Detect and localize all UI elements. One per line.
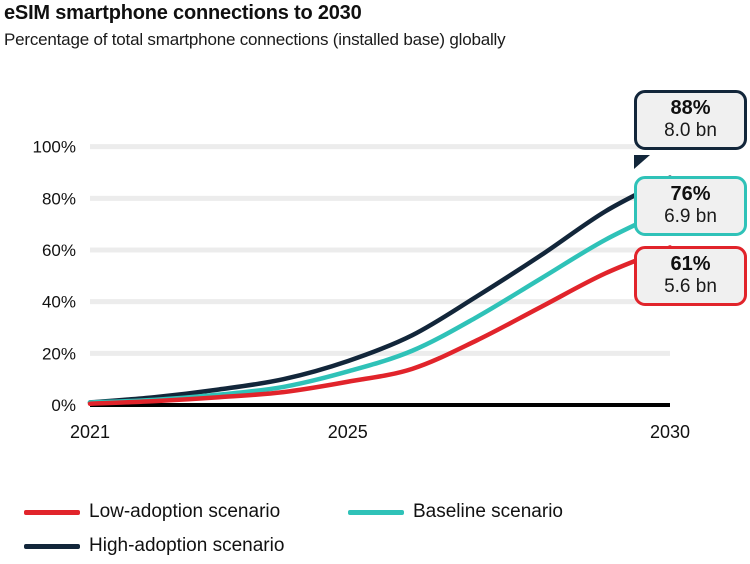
callout-percent: 88% [637, 98, 744, 120]
legend-label: Low-adoption scenario [89, 501, 280, 523]
legend-row-2: High-adoption scenario [24, 529, 724, 563]
gridlines [90, 147, 670, 354]
x-axis-tick-label: 2025 [328, 422, 368, 442]
line-chart-svg: 0%20%40%60%80%100% 202120252030 [0, 0, 750, 470]
y-axis-tick-label: 80% [42, 189, 76, 208]
callout-low-adoption: 61% 5.6 bn [634, 246, 747, 306]
callout-high-adoption: 88% 8.0 bn [634, 90, 747, 150]
legend-item-low-adoption[interactable]: Low-adoption scenario [24, 501, 348, 523]
callout-percent: 61% [637, 254, 744, 276]
legend-item-high-adoption[interactable]: High-adoption scenario [24, 535, 284, 557]
legend-row-1: Low-adoption scenario Baseline scenario [24, 495, 724, 529]
legend-swatch-icon [24, 544, 80, 549]
x-axis-tick-label: 2030 [650, 422, 690, 442]
y-axis-tick-label: 0% [51, 396, 76, 415]
chart-container: eSIM smartphone connections to 2030 Perc… [0, 0, 750, 564]
y-axis-tick-label: 100% [33, 138, 76, 157]
series-lines [90, 178, 670, 404]
y-axis-tick-label: 20% [42, 344, 76, 363]
x-axis-tick-label: 2021 [70, 422, 110, 442]
y-axis-tick-label: 60% [42, 241, 76, 260]
series-line [90, 209, 670, 403]
legend-swatch-icon [24, 510, 80, 515]
callout-volume: 8.0 bn [637, 121, 744, 142]
y-axis-tick-label: 40% [42, 293, 76, 312]
legend-item-baseline[interactable]: Baseline scenario [348, 501, 668, 523]
chart-legend: Low-adoption scenario Baseline scenario … [24, 495, 724, 563]
series-line [90, 178, 670, 403]
series-line [90, 247, 670, 403]
x-axis-tick-labels: 202120252030 [70, 422, 690, 442]
legend-label: Baseline scenario [413, 501, 563, 523]
legend-label: High-adoption scenario [89, 535, 284, 557]
legend-swatch-icon [348, 510, 404, 515]
callout-percent: 76% [637, 184, 744, 206]
callout-tail-high-adoption [634, 155, 650, 169]
callout-volume: 5.6 bn [637, 277, 744, 298]
plot-area: 0%20%40%60%80%100% 202120252030 [0, 0, 750, 470]
callout-volume: 6.9 bn [637, 207, 744, 228]
callout-baseline: 76% 6.9 bn [634, 176, 747, 236]
y-axis-tick-labels: 0%20%40%60%80%100% [33, 138, 76, 415]
